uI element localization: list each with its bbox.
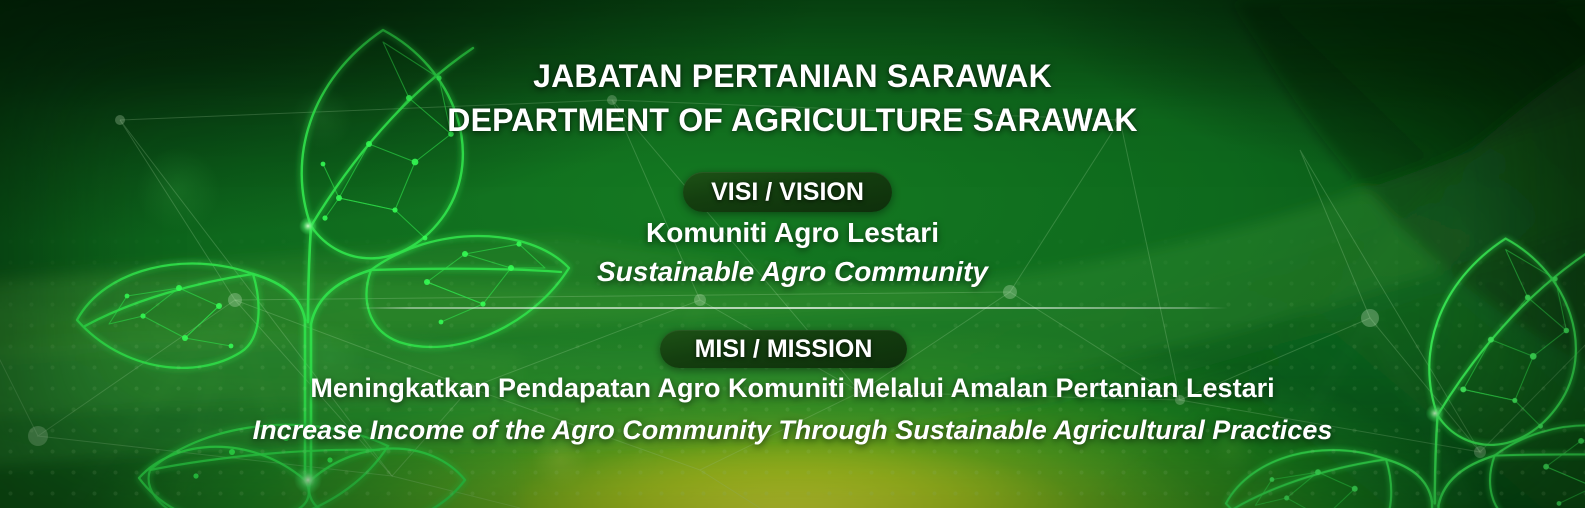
vision-text-english: Sustainable Agro Community xyxy=(0,258,1585,286)
mission-text-english: Increase Income of the Agro Community Th… xyxy=(0,417,1585,444)
banner-content: JABATAN PERTANIAN SARAWAK DEPARTMENT OF … xyxy=(0,0,1585,508)
mission-badge: MISI / MISSION xyxy=(660,330,907,368)
title-english: DEPARTMENT OF AGRICULTURE SARAWAK xyxy=(0,104,1585,136)
vision-badge: VISI / VISION xyxy=(683,172,892,212)
mission-text-malay: Meningkatkan Pendapatan Agro Komuniti Me… xyxy=(0,375,1585,402)
title-malay: JABATAN PERTANIAN SARAWAK xyxy=(0,60,1585,92)
vision-mission-banner: JABATAN PERTANIAN SARAWAK DEPARTMENT OF … xyxy=(0,0,1585,508)
vision-text-malay: Komuniti Agro Lestari xyxy=(0,219,1585,247)
section-divider xyxy=(357,307,1228,309)
